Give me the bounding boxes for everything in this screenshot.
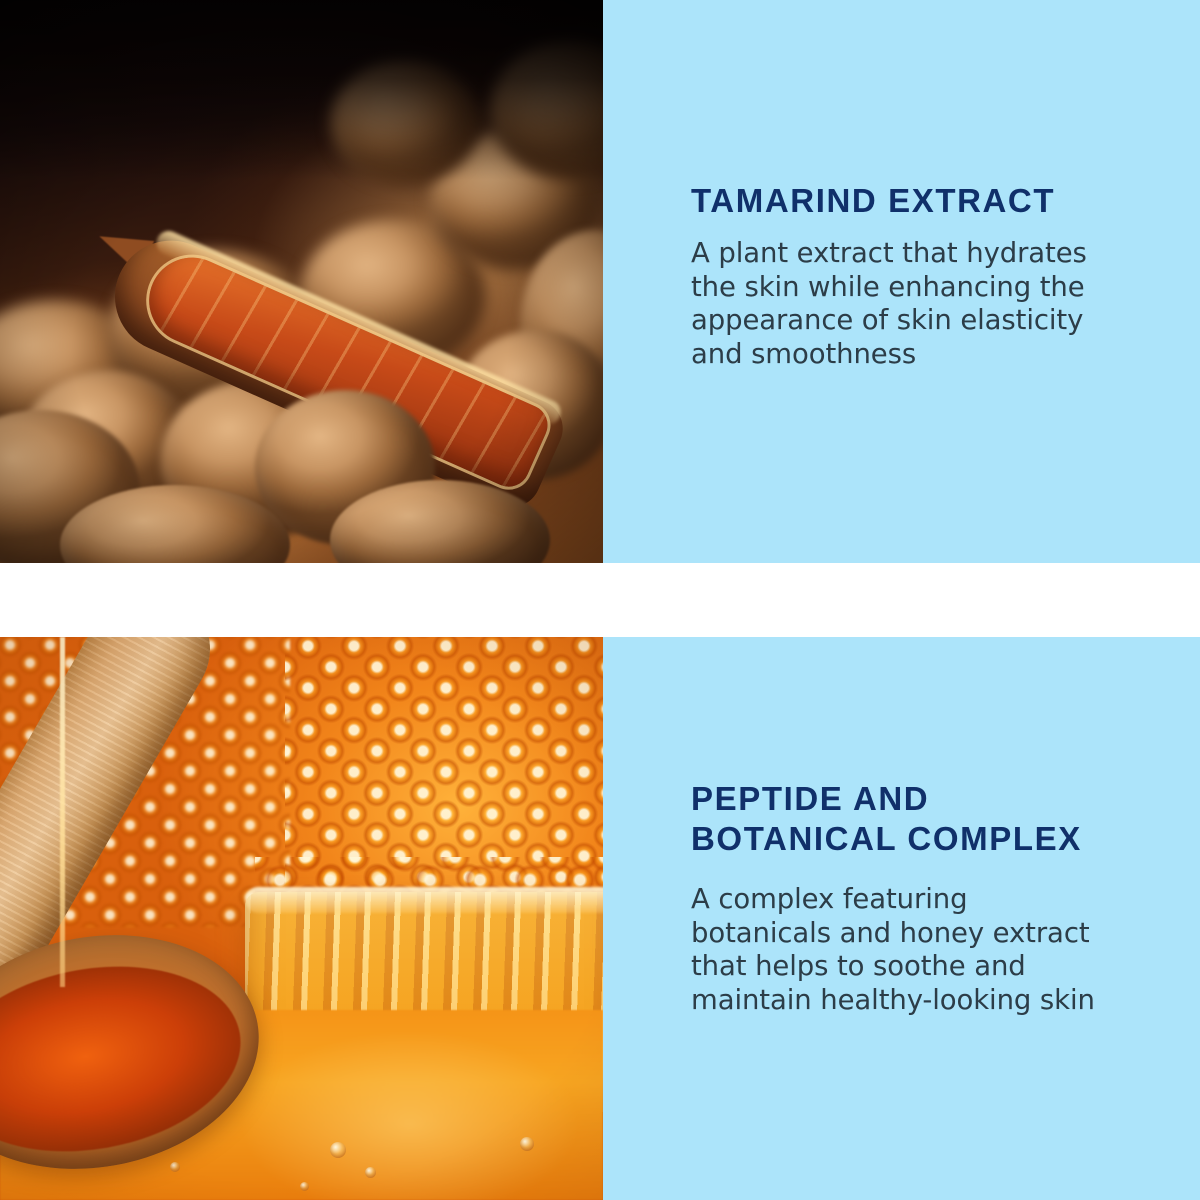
honey-bubble (365, 1167, 376, 1178)
tamarind-pods-photo (0, 0, 603, 563)
honeycomb-and-wooden-spoon-photo (0, 637, 603, 1200)
peptide-botanical-copy-block: PEPTIDE AND BOTANICAL COMPLEX A complex … (603, 637, 1200, 1200)
tamarind-pod (330, 60, 480, 185)
ingredient-panel-tamarind: TAMARIND EXTRACT A plant extract that hy… (0, 0, 1200, 563)
peptide-botanical-description: A complex featuring botanicals and honey… (691, 883, 1172, 1017)
tamarind-description: A plant extract that hydrates the skin w… (691, 237, 1172, 371)
panel-divider (0, 563, 1200, 637)
honey-drizzle (60, 637, 65, 987)
honey-bubble (300, 1182, 309, 1191)
ingredient-poster: TAMARIND EXTRACT A plant extract that hy… (0, 0, 1200, 1200)
ingredient-panel-peptide-botanical: PEPTIDE AND BOTANICAL COMPLEX A complex … (0, 637, 1200, 1200)
honey-bubble (520, 1137, 534, 1151)
tamarind-heading: TAMARIND EXTRACT (691, 181, 1172, 221)
honeycomb-slab-edge (245, 887, 603, 913)
honey-bubble (170, 1162, 180, 1172)
tamarind-copy-block: TAMARIND EXTRACT A plant extract that hy… (603, 0, 1200, 563)
honey-bubble (330, 1142, 346, 1158)
peptide-botanical-heading: PEPTIDE AND BOTANICAL COMPLEX (691, 779, 1172, 859)
